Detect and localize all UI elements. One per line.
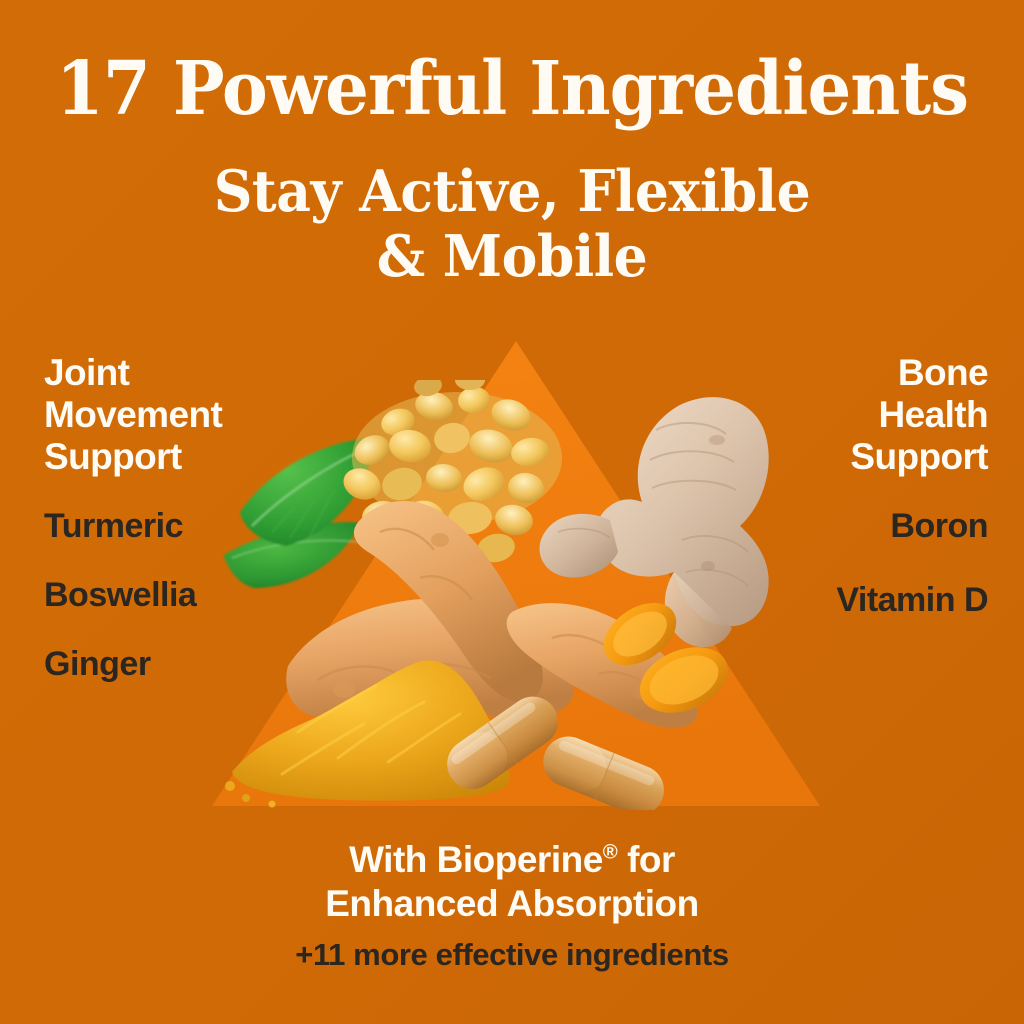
list-item: Boswellia xyxy=(44,578,344,612)
left-title-line-1: Joint xyxy=(44,352,344,394)
left-column-title: Joint Movement Support xyxy=(44,352,344,479)
subtitle-line-1: Stay Active, Flexible xyxy=(214,158,811,225)
bioperine-claim: With Bioperine® for Enhanced Absorption xyxy=(0,838,1024,925)
bioperine-line-2: Enhanced Absorption xyxy=(0,882,1024,926)
subtitle: Stay Active, Flexible & Mobile xyxy=(31,160,994,290)
left-ingredient-list: Turmeric Boswellia Ginger xyxy=(44,509,344,681)
list-item: Ginger xyxy=(44,647,344,681)
right-ingredient-list: Boron Vitamin D xyxy=(688,509,988,617)
supplement-ingredient-infographic: 17 Powerful Ingredients Stay Active, Fle… xyxy=(0,0,1024,1024)
right-title-line-1: Bone xyxy=(688,352,988,394)
subtitle-line-2: & Mobile xyxy=(31,225,994,290)
bioperine-line-1: With Bioperine® for xyxy=(0,838,1024,882)
bottom-claims: With Bioperine® for Enhanced Absorption … xyxy=(0,838,1024,973)
bioperine-for: for xyxy=(617,839,675,880)
left-title-line-2: Movement xyxy=(44,394,344,436)
registered-trademark-icon: ® xyxy=(603,842,618,864)
list-item: Boron xyxy=(688,509,988,543)
list-item: Turmeric xyxy=(44,509,344,543)
right-title-line-2: Health xyxy=(688,394,988,436)
right-title-line-3: Support xyxy=(688,436,988,478)
list-item: Vitamin D xyxy=(688,583,988,617)
right-column-title: Bone Health Support xyxy=(688,352,988,479)
left-title-line-3: Support xyxy=(44,436,344,478)
page-title: 17 Powerful Ingredients xyxy=(36,52,988,126)
bone-health-support-column: Bone Health Support Boron Vitamin D xyxy=(688,352,988,657)
bioperine-text: With Bioperine xyxy=(349,839,603,880)
more-ingredients-note: +11 more effective ingredients xyxy=(0,937,1024,973)
joint-movement-support-column: Joint Movement Support Turmeric Boswelli… xyxy=(44,352,344,716)
